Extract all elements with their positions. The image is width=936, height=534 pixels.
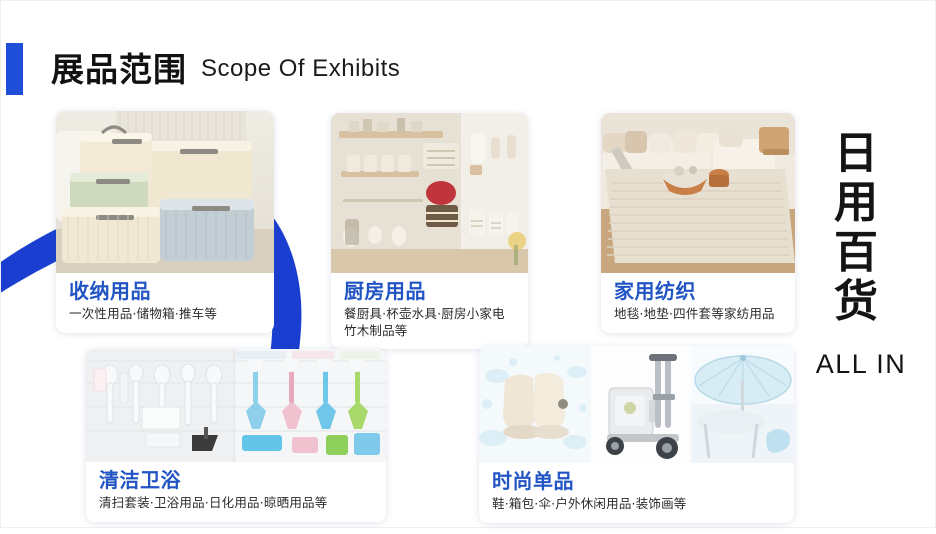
vertical-char-4: 货 [827, 277, 885, 326]
category-card-storage[interactable]: 收纳用品 一次性用品·储物箱·推车等 [56, 111, 274, 333]
vertical-char-3: 百 [827, 228, 885, 277]
card-body-fashion: 时尚单品 鞋·箱包·伞·户外休闲用品·装饰画等 [479, 463, 794, 523]
category-card-textile[interactable]: 家用纺织 地毯·地垫·四件套等家纺用品 [601, 113, 795, 333]
category-card-kitchen[interactable]: 厨房用品 餐厨具·杯壶水具·厨房小家电 竹木制品等 [331, 113, 528, 349]
card-body-kitchen: 厨房用品 餐厨具·杯壶水具·厨房小家电 竹木制品等 [331, 273, 528, 349]
vertical-char-1: 日 [827, 129, 885, 178]
page-title-en: Scope Of Exhibits [201, 57, 400, 81]
card-title-fashion: 时尚单品 [492, 470, 782, 493]
vertical-char-2: 用 [827, 178, 885, 227]
page-title-cn: 展品范围 [51, 53, 187, 86]
card-title-kitchen: 厨房用品 [344, 280, 516, 303]
card-title-storage: 收纳用品 [69, 280, 262, 303]
page-header: 展品范围 Scope Of Exhibits [1, 41, 400, 97]
card-image-fashion [479, 346, 794, 463]
card-subtitle-fashion: 鞋·箱包·伞·户外休闲用品·装饰画等 [492, 496, 782, 513]
card-title-clean: 清洁卫浴 [99, 469, 374, 492]
card-subtitle-kitchen-line1: 餐厨具·杯壶水具·厨房小家电 [344, 306, 516, 323]
card-subtitle-textile: 地毯·地垫·四件套等家纺用品 [614, 306, 783, 323]
card-subtitle-kitchen: 餐厨具·杯壶水具·厨房小家电 竹木制品等 [344, 306, 516, 339]
card-body-storage: 收纳用品 一次性用品·储物箱·推车等 [56, 273, 274, 333]
card-image-storage [56, 111, 274, 273]
card-body-clean: 清洁卫浴 清扫套装·卫浴用品·日化用品·晾晒用品等 [86, 462, 386, 522]
card-subtitle-kitchen-line2: 竹木制品等 [344, 323, 516, 340]
card-image-clean [86, 349, 386, 462]
card-subtitle-clean: 清扫套装·卫浴用品·日化用品·晾晒用品等 [99, 495, 374, 512]
vertical-brand: 日 用 百 货 [827, 129, 885, 326]
category-card-fashion[interactable]: 时尚单品 鞋·箱包·伞·户外休闲用品·装饰画等 [479, 346, 794, 523]
card-image-textile [601, 113, 795, 273]
card-body-textile: 家用纺织 地毯·地垫·四件套等家纺用品 [601, 273, 795, 333]
accent-bar [6, 43, 23, 95]
brand-tagline: ALL IN [801, 349, 921, 380]
slide-root: 展品范围 Scope Of Exhibits [0, 0, 936, 528]
category-card-clean[interactable]: 清洁卫浴 清扫套装·卫浴用品·日化用品·晾晒用品等 [86, 349, 386, 522]
card-image-kitchen [331, 113, 528, 273]
card-title-textile: 家用纺织 [614, 280, 783, 303]
card-subtitle-storage: 一次性用品·储物箱·推车等 [69, 306, 262, 323]
